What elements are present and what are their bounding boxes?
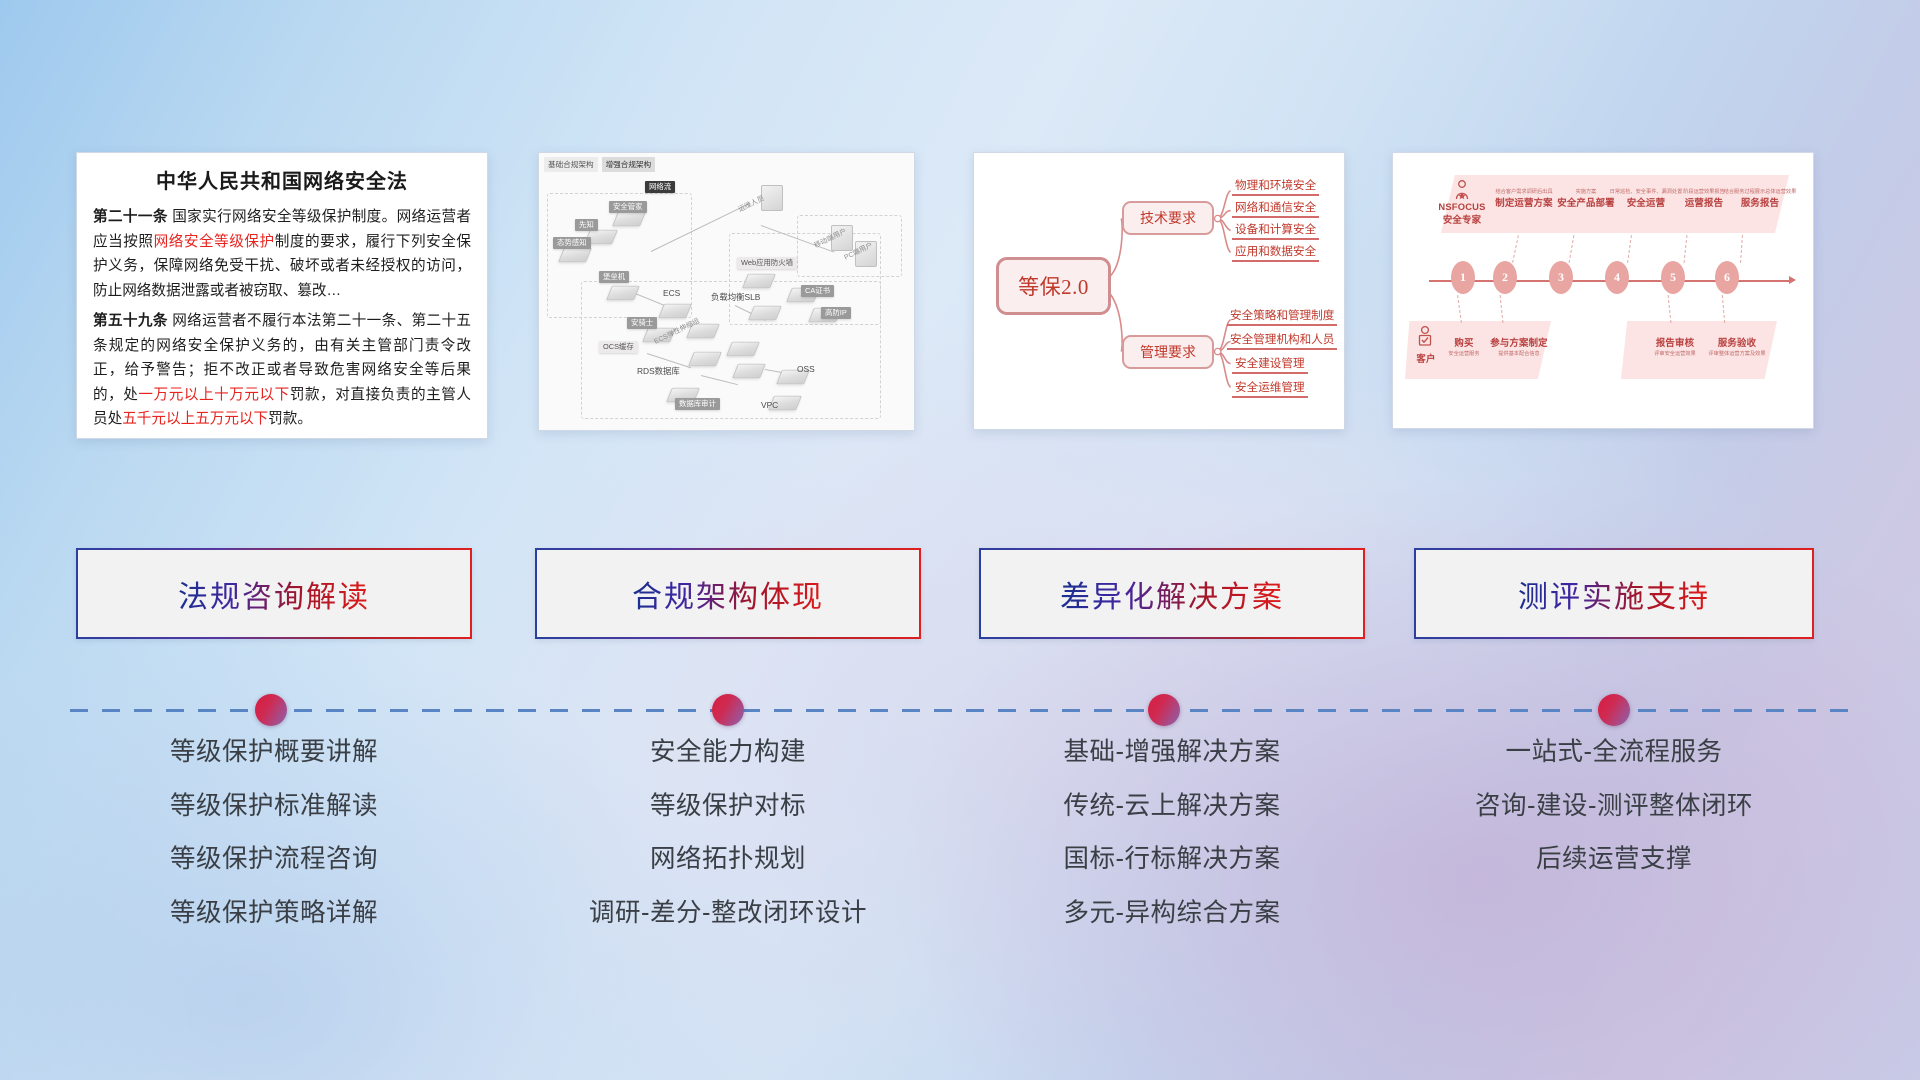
flow-node-5[interactable]: 5 (1661, 261, 1685, 294)
flow-step-bottom: 报告审核 评审安全运营效果 (1643, 335, 1707, 357)
heading-label: 法规咨询解读 (178, 572, 370, 616)
timeline (0, 690, 1920, 730)
law-highlight-segment: 五千元以上五万元以下 (122, 411, 268, 427)
heading-box-differentiated-solution[interactable]: 差异化解决方案 (979, 548, 1365, 639)
list-item: 多元-异构综合方案 (979, 901, 1365, 927)
mindmap-leaf: 安全管理机构和人员 (1227, 331, 1337, 350)
list-item: 等级保护流程咨询 (76, 847, 472, 873)
flow-step-bottom: 参与方案制定 提供基本配合信息 (1483, 335, 1555, 357)
mindmap-leaf: 物理和环境安全 (1232, 177, 1319, 196)
expert-icon (1451, 179, 1473, 201)
mindmap-diagram: 等保2.0 技术要求 物理和环境安全 网络和通信安全 设备和计算安全 应用和数据… (974, 153, 1344, 429)
flow-step-bottom: 服务验收 评审整体运营方案及效果 (1701, 335, 1773, 357)
arch-label-ca-certificate: CA证书 (801, 285, 834, 297)
arch-label-network-flow: 网络流 (645, 181, 675, 193)
server-node (661, 301, 689, 321)
flow-step-sub: 提供基本配合信息 (1483, 350, 1555, 357)
arch-label-anqishi: 安骑士 (627, 317, 657, 329)
detail-column-1: 等级保护概要讲解 等级保护标准解读 等级保护流程咨询 等级保护策略详解 (76, 740, 472, 954)
flow-connector (1457, 295, 1462, 323)
flow-step-sub: 评审整体运营方案及效果 (1701, 350, 1773, 357)
arch-label-ocs-cache: OCS缓存 (599, 341, 638, 353)
law-title: 中华人民共和国网络安全法 (93, 165, 471, 194)
arch-label-rds-database: RDS数据库 (637, 367, 680, 376)
mindmap-leaf: 网络和通信安全 (1232, 199, 1319, 218)
heading-box-regulation-consulting[interactable]: 法规咨询解读 (76, 548, 472, 639)
heading-box-assessment-support[interactable]: 测评实施支持 (1414, 548, 1814, 639)
law-highlight-segment: 网络安全等级保护 (154, 234, 275, 250)
heading-box-compliance-architecture[interactable]: 合规架构体现 (535, 548, 921, 639)
arch-label-oss: OSS (797, 365, 815, 374)
flow-node-2[interactable]: 2 (1493, 261, 1517, 294)
arch-label-ecs: ECS (663, 289, 680, 298)
evidence-card-row: 中华人民共和国网络安全法 第二十一条 国家实行网络安全等级保护制度。网络运营者应… (0, 152, 1920, 442)
tab-basic-architecture[interactable]: 基础合规架构 (544, 157, 598, 172)
card-dengbao-mindmap[interactable]: 等保2.0 技术要求 物理和环境安全 网络和通信安全 设备和计算安全 应用和数据… (973, 152, 1345, 430)
law-article-number: 第五十九条 (93, 313, 168, 329)
timeline-dot-3[interactable] (1148, 694, 1180, 726)
heading-row: 法规咨询解读 合规架构体现 差异化解决方案 测评实施支持 (0, 548, 1920, 648)
server-node (735, 361, 763, 381)
list-item: 网络拓扑规划 (535, 847, 921, 873)
flow-step-sub: 结合服务过程展示总体运营效果 (1723, 188, 1797, 195)
law-text-segment: 罚款。 (268, 411, 312, 427)
detail-column-4: 一站式-全流程服务 咨询-建设-测评整体闭环 后续运营支撑 (1414, 740, 1814, 901)
detail-columns: 等级保护概要讲解 等级保护标准解读 等级保护流程咨询 等级保护策略详解 安全能力… (0, 740, 1920, 990)
flow-step-main: 报告审核 (1643, 335, 1707, 349)
card-cloud-architecture[interactable]: 基础合规架构 增强合规架构 (538, 152, 915, 431)
law-article-number: 第二十一条 (93, 209, 168, 225)
service-flow-diagram: NSFOCUS 安全专家 结合客户需求调研后出具 制定运营方案 实施方案 安全产… (1393, 153, 1813, 428)
mindmap-leaf: 安全建设管理 (1232, 355, 1308, 374)
arch-label-situational-awareness: 态势感知 (553, 237, 591, 249)
list-item: 传统-云上解决方案 (979, 794, 1365, 820)
mindmap-leaf: 设备和计算安全 (1232, 221, 1319, 240)
arch-label-vpc: VPC (761, 401, 778, 410)
timeline-dashed-line (70, 709, 1850, 712)
detail-column-3: 基础-增强解决方案 传统-云上解决方案 国标-行标解决方案 多元-异构综合方案 (979, 740, 1365, 954)
flow-connector (1684, 235, 1688, 263)
flow-node-4[interactable]: 4 (1605, 261, 1629, 294)
flow-connector (1512, 235, 1519, 263)
list-item: 等级保护标准解读 (76, 794, 472, 820)
flow-actor-provider-sub: 安全专家 (1433, 212, 1491, 226)
list-item: 咨询-建设-测评整体闭环 (1414, 794, 1814, 820)
flow-node-3[interactable]: 3 (1549, 261, 1573, 294)
arch-label-security-housekeeper: 安全管家 (609, 201, 647, 213)
card-service-flow[interactable]: NSFOCUS 安全专家 结合客户需求调研后出具 制定运营方案 实施方案 安全产… (1392, 152, 1814, 429)
flow-connector (1627, 235, 1632, 263)
flow-actor-provider-name: NSFOCUS (1433, 201, 1491, 212)
list-item: 安全能力构建 (535, 740, 921, 766)
flow-connector (1500, 295, 1504, 323)
slide-canvas: 中华人民共和国网络安全法 第二十一条 国家实行网络安全等级保护制度。网络运营者应… (0, 0, 1920, 1080)
law-paragraph: 第五十九条 网络运营者不履行本法第二十一条、第二十五条规定的网络安全保护义务的，… (93, 309, 471, 432)
flow-node-6[interactable]: 6 (1715, 261, 1739, 294)
heading-label: 差异化解决方案 (1060, 572, 1284, 616)
tab-enhanced-architecture[interactable]: 增强合规架构 (602, 157, 656, 172)
heading-label: 合规架构体现 (632, 572, 824, 616)
mindmap-leaf: 应用和数据安全 (1232, 243, 1319, 262)
server-node (691, 349, 719, 369)
server-node (745, 271, 773, 291)
list-item: 国标-行标解决方案 (979, 847, 1365, 873)
customer-icon (1415, 325, 1435, 349)
flow-connector (1722, 295, 1725, 323)
architecture-tab-strip[interactable]: 基础合规架构 增强合规架构 (544, 157, 655, 172)
flow-step-top: 结合服务过程展示总体运营效果 服务报告 (1723, 187, 1797, 209)
server-node (751, 303, 779, 323)
flow-node-1[interactable]: 1 (1451, 261, 1475, 294)
flow-connector (1740, 235, 1743, 263)
server-node (609, 283, 637, 303)
list-item: 等级保护策略详解 (76, 901, 472, 927)
list-item: 等级保护概要讲解 (76, 740, 472, 766)
flow-axis-arrow (1789, 276, 1796, 284)
list-item: 一站式-全流程服务 (1414, 740, 1814, 766)
heading-label: 测评实施支持 (1518, 572, 1710, 616)
flow-step-sub: 评审安全运营效果 (1643, 350, 1707, 357)
flow-actor-provider: NSFOCUS 安全专家 (1433, 201, 1491, 226)
arch-label-anti-ddos-ip: 高防IP (821, 307, 851, 319)
server-node (729, 339, 757, 359)
flow-connector (1569, 235, 1575, 263)
list-item: 调研-差分-整改闭环设计 (535, 901, 921, 927)
flow-step-main: 服务报告 (1723, 195, 1797, 209)
arch-label-bastion-host: 堡垒机 (599, 271, 629, 283)
mindmap-root-node[interactable]: 等保2.0 (996, 257, 1111, 315)
card-cybersecurity-law[interactable]: 中华人民共和国网络安全法 第二十一条 国家实行网络安全等级保护制度。网络运营者应… (76, 152, 488, 439)
flow-step-main: 服务验收 (1701, 335, 1773, 349)
arch-label-waf: Web应用防火墙 (737, 257, 797, 269)
flow-connector (1668, 295, 1672, 323)
flow-step-main: 参与方案制定 (1483, 335, 1555, 349)
mindmap-leaf: 安全策略和管理制度 (1227, 307, 1337, 326)
timeline-dot-4[interactable] (1598, 694, 1630, 726)
list-item: 后续运营支撑 (1414, 847, 1814, 873)
list-item: 等级保护对标 (535, 794, 921, 820)
law-document: 中华人民共和国网络安全法 第二十一条 国家实行网络安全等级保护制度。网络运营者应… (77, 153, 487, 438)
architecture-diagram: 基础合规架构 增强合规架构 (539, 153, 914, 430)
list-item: 基础-增强解决方案 (979, 740, 1365, 766)
arch-label-database-audit: 数据库审计 (675, 398, 720, 410)
law-paragraph: 第二十一条 国家实行网络安全等级保护制度。网络运营者应当按照网络安全等级保护制度… (93, 205, 471, 303)
arch-label-xianzhi: 先知 (575, 219, 598, 231)
law-highlight-segment: 一万元以上十万元以下 (138, 387, 289, 403)
mindmap-leaf: 安全运维管理 (1232, 379, 1308, 398)
arch-label-slb: 负载均衡SLB (711, 293, 760, 302)
detail-column-2: 安全能力构建 等级保护对标 网络拓扑规划 调研-差分-整改闭环设计 (535, 740, 921, 954)
timeline-dot-1[interactable] (255, 694, 287, 726)
timeline-dot-2[interactable] (712, 694, 744, 726)
mindmap-branch-technical[interactable]: 技术要求 (1122, 201, 1214, 235)
mindmap-branch-management[interactable]: 管理要求 (1122, 335, 1214, 369)
